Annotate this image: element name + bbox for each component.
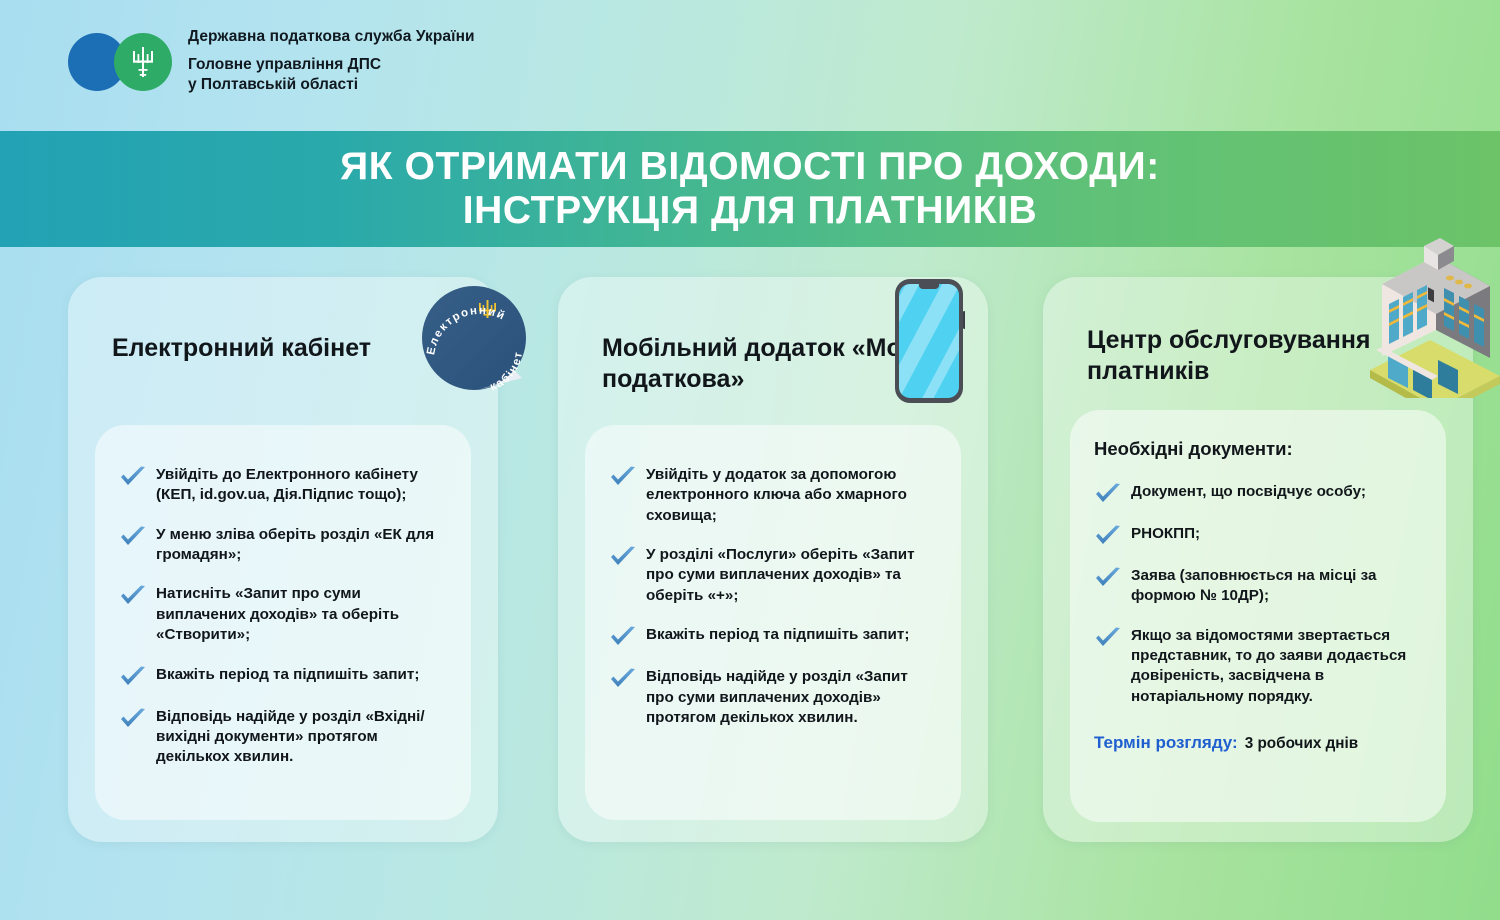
list-item: Відповідь надійде у розділ «Запит про су…	[609, 667, 939, 728]
card-inner-panel: Увійдіть до Електронного кабінету (КЕП, …	[95, 425, 471, 820]
steps-list: Увійдіть до Електронного кабінету (КЕП, …	[119, 465, 449, 768]
list-item-text: Вкажіть період та підпишіть запит;	[646, 625, 909, 645]
review-term-label: Термін розгляду:	[1094, 733, 1238, 752]
list-item: Увійдіть у додаток за допомогою електрон…	[609, 465, 939, 526]
org-line-2: Головне управління ДПС у Полтавській обл…	[188, 55, 475, 96]
list-item: Якщо за відомостями звертається представ…	[1094, 626, 1424, 707]
org-line-1: Державна податкова служба України	[188, 28, 475, 46]
list-item-text: Натисніть «Запит про суми виплачених дох…	[156, 584, 449, 645]
list-item: РНОКПП;	[1094, 524, 1424, 547]
list-item-text: Відповідь надійде у розділ «Вхідні/вихід…	[156, 707, 449, 768]
check-icon	[119, 666, 147, 688]
review-term-row: Термін розгляду:3 робочих днів	[1094, 733, 1424, 753]
electronic-cabinet-sticker: Електронний кабінет	[418, 282, 534, 402]
check-icon	[609, 546, 637, 568]
columns-area: Електронний кабінет Увійдіть до Електрон…	[0, 247, 1500, 920]
trident-icon	[131, 45, 155, 79]
org-line-2b: у Полтавській області	[188, 76, 358, 93]
list-item: У меню зліва оберіть розділ «ЕК для гром…	[119, 525, 449, 566]
check-icon	[1094, 567, 1122, 589]
check-icon	[119, 466, 147, 488]
check-icon	[609, 668, 637, 690]
logo-green-circle-icon	[114, 33, 172, 91]
page-title-line-2: ІНСТРУКЦІЯ ДЛЯ ПЛАТНИКІВ	[463, 189, 1038, 233]
mobile-phone-icon	[893, 277, 965, 405]
check-icon	[609, 626, 637, 648]
list-item-text: Якщо за відомостями звертається представ…	[1131, 626, 1424, 707]
page-title-line-1: ЯК ОТРИМАТИ ВІДОМОСТІ ПРО ДОХОДИ:	[340, 145, 1160, 189]
documents-list: Необхідні документи: Документ, що посвід…	[1094, 438, 1424, 753]
check-icon	[119, 585, 147, 607]
card-inner-panel: Необхідні документи: Документ, що посвід…	[1070, 410, 1446, 822]
list-item: Відповідь надійде у розділ «Вхідні/вихід…	[119, 707, 449, 768]
list-item-text: Вкажіть період та підпишіть запит;	[156, 665, 419, 685]
card-title: Електронний кабінет	[112, 333, 462, 364]
title-banner: ЯК ОТРИМАТИ ВІДОМОСТІ ПРО ДОХОДИ: ІНСТРУ…	[0, 131, 1500, 247]
list-item: Документ, що посвідчує особу;	[1094, 482, 1424, 505]
page-header: Державна податкова служба України Головн…	[0, 0, 1500, 131]
check-icon	[119, 526, 147, 548]
card-inner-panel: Увійдіть у додаток за допомогою електрон…	[585, 425, 961, 820]
list-item-text: Відповідь надійде у розділ «Запит про су…	[646, 667, 939, 728]
service-center-building-icon	[1358, 238, 1500, 398]
logo-block: Державна податкова служба України Головн…	[68, 28, 475, 96]
list-item-text: Документ, що посвідчує особу;	[1131, 482, 1366, 502]
documents-subheading: Необхідні документи:	[1094, 438, 1424, 460]
check-icon	[609, 466, 637, 488]
org-name-block: Державна податкова служба України Головн…	[188, 28, 475, 96]
list-item-text: У розділі «Послуги» оберіть «Запит про с…	[646, 545, 939, 606]
list-item: У розділі «Послуги» оберіть «Запит про с…	[609, 545, 939, 606]
check-icon	[1094, 483, 1122, 505]
check-icon	[1094, 525, 1122, 547]
list-item: Натисніть «Запит про суми виплачених дох…	[119, 584, 449, 645]
list-item-text: Увійдіть у додаток за допомогою електрон…	[646, 465, 939, 526]
list-item: Вкажіть період та підпишіть запит;	[119, 665, 449, 688]
steps-list: Увійдіть у додаток за допомогою електрон…	[609, 465, 939, 728]
list-item-text: Заява (заповнюється на місці за формою №…	[1131, 566, 1424, 607]
check-icon	[1094, 627, 1122, 649]
org-line-2a: Головне управління ДПС	[188, 56, 381, 73]
list-item: Заява (заповнюється на місці за формою №…	[1094, 566, 1424, 607]
check-icon	[119, 708, 147, 730]
review-term-value: 3 робочих днів	[1245, 735, 1359, 752]
list-item-text: У меню зліва оберіть розділ «ЕК для гром…	[156, 525, 449, 566]
list-item-text: РНОКПП;	[1131, 524, 1200, 544]
list-item-text: Увійдіть до Електронного кабінету (КЕП, …	[156, 465, 449, 506]
list-item: Вкажіть період та підпишіть запит;	[609, 625, 939, 648]
list-item: Увійдіть до Електронного кабінету (КЕП, …	[119, 465, 449, 506]
